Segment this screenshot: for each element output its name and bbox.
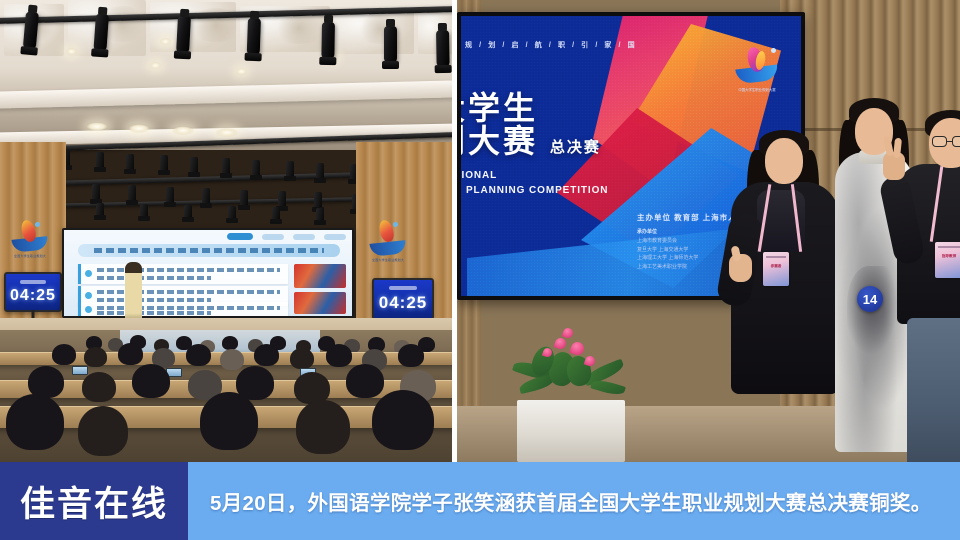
brand-block: 佳音在线 [0,462,188,540]
led-title-line2: 划大赛 [457,123,538,159]
led-subtitle-line2: EER PLANNING COMPETITION [457,183,608,198]
contestant-number-badge: 14 [857,286,883,312]
qipao-ink-motif [847,266,901,362]
flower-arrangement [509,312,637,408]
competition-emblem-left: 全国大学生职业规划大赛 [10,218,50,260]
led-slogan: 规 / 划 / 启 / 航 / 职 / 引 / 家 / 国 [465,40,645,50]
caption-text: 5月20日，外国语学院学子张笑涵获首届全国大学生职业规划大赛总决赛铜奖。 [188,486,932,516]
led-title-chinese: 大学生 划大赛 总决赛 [457,92,601,159]
far-stage-glow [120,330,320,352]
stage-light [247,18,261,56]
stage-presentation-screen [62,228,354,318]
competition-logo-icon: 中国大学生职业规划大赛 [735,46,779,92]
timer-value: 04:25 [10,287,56,305]
led-title-line1: 大学生 [457,90,538,126]
badge-text: 指导教师 [937,254,960,259]
eyeglasses-icon [932,136,960,149]
photo-group-award: 规 / 划 / 启 / 航 / 职 / 引 / 家 / 国 大学生 划大赛 总决… [457,0,960,462]
organizer-col1-item: 上海工艺美术职业学院 [637,263,698,272]
stage-light [321,22,335,60]
caption-bar: 佳音在线 5月20日，外国语学院学子张笑涵获首届全国大学生职业规划大赛总决赛铜奖… [0,462,960,540]
audience-area [0,330,452,462]
led-subtitle-line1: NATIONAL [457,168,608,183]
stage-light [176,16,191,55]
competition-emblem-right: 全国大学生职业规划大赛 [368,218,414,264]
participant-badge: 参赛者 [763,252,789,286]
stage-light [93,14,109,53]
slide-image-thumb [294,292,346,314]
presenter-on-stage [125,262,142,326]
timer-value: 04:25 [379,293,427,313]
led-title-final-round: 总决赛 [550,139,601,156]
caption-block: 5月20日，外国语学院学子张笑涵获首届全国大学生职业规划大赛总决赛铜奖。 [188,462,960,540]
emblem-caption: 全国大学生职业规划大赛 [14,254,46,259]
logo-caption: 中国大学生职业规划大赛 [735,87,779,92]
organizer-col1-item: 上海理工大学 上海师范大学 [637,254,698,263]
planter-box [517,400,625,462]
news-card-page: 全国大学生职业规划大赛 04:25 全国大学生职业规划大赛 04:25 [0,0,960,540]
person-man-right: 指导教师 [901,110,960,462]
slide-title-band [78,244,340,257]
brand-label: 佳音在线 [20,476,168,527]
countdown-timer-right: 04:25 [372,278,434,320]
led-subtitle-english: NATIONAL EER PLANNING COMPETITION [457,168,608,198]
organizer-column-1: 承办单位 上海市教育委员会 复旦大学 上海交通大学 上海理工大学 上海师范大学 … [637,228,698,272]
photo-auditorium: 全国大学生职业规划大赛 04:25 全国大学生职业规划大赛 04:25 [0,0,452,462]
photo-collage: 全国大学生职业规划大赛 04:25 全国大学生职业规划大赛 04:25 [0,0,960,462]
badge-text: 参赛者 [765,264,787,269]
stage-light [436,30,450,68]
stage-light [384,26,397,64]
organizer-col1-item: 复旦大学 上海交通大学 [637,246,698,255]
ceiling [0,0,452,150]
slide-tabs [227,233,346,240]
slide-row [78,302,288,318]
organizer-col1-header: 承办单位 [637,228,698,237]
organizer-col1-item: 上海市教育委员会 [637,237,698,246]
emblem-caption: 全国大学生职业规划大赛 [372,258,404,263]
jeans [907,318,960,462]
slide-image-thumb [294,264,346,288]
slide-row [78,264,288,284]
countdown-timer-left: 04:25 [4,272,62,312]
contestant-number: 14 [863,292,877,307]
instructor-badge: 指导教师 [935,242,960,278]
